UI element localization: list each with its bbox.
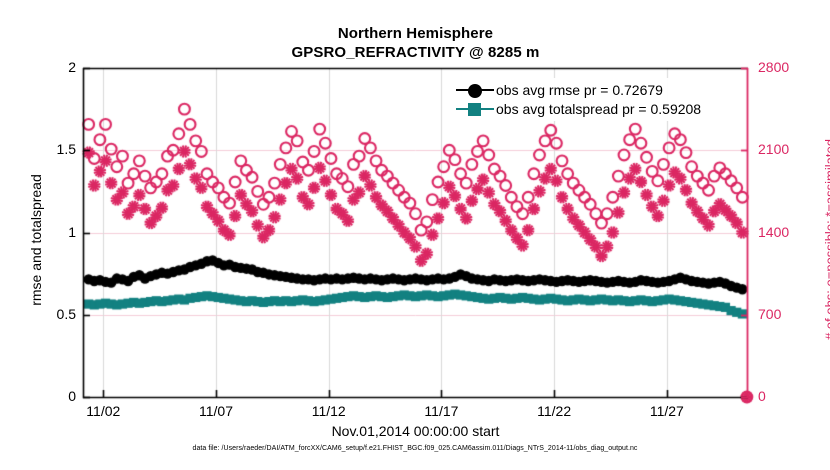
legend-marker-filled-square-icon: [456, 101, 494, 117]
y-tick-right-1400: 1400: [758, 224, 818, 240]
y-tick-left-0: 0: [21, 388, 76, 404]
y-tick-left-1: 1: [21, 224, 76, 240]
y-axis-right-label: # of obs: o=possible; *=assimilated: [823, 110, 830, 370]
legend-entry-totalspread[interactable]: obs avg totalspread pr = 0.59208: [456, 99, 701, 118]
x-tick-11-02: 11/02: [68, 403, 138, 419]
x-tick-11-07: 11/07: [181, 403, 251, 419]
y-tick-right-2800: 2800: [758, 59, 818, 75]
y-tick-right-2100: 2100: [758, 141, 818, 157]
chart-legend: obs avg rmse pr = 0.72679 obs avg totals…: [452, 78, 705, 121]
plot-canvas[interactable]: [0, 0, 830, 470]
x-tick-11-17: 11/17: [406, 403, 476, 419]
legend-entry-rmse[interactable]: obs avg rmse pr = 0.72679: [456, 80, 701, 99]
x-tick-11-27: 11/27: [632, 403, 702, 419]
data-file-footer: data file: /Users/raeder/DAI/ATM_forcXX/…: [0, 445, 830, 452]
figure-root: Northern Hemisphere GPSRO_REFRACTIVITY @…: [0, 0, 830, 470]
y-tick-right-0: 0: [758, 388, 818, 404]
y-tick-left-0.5: 0.5: [21, 306, 76, 322]
y-tick-left-1.5: 1.5: [21, 141, 76, 157]
x-axis-label: Nov.01,2014 00:00:00 start: [83, 423, 748, 439]
x-tick-11-22: 11/22: [519, 403, 589, 419]
legend-marker-filled-circle-icon: [456, 82, 494, 98]
y-tick-right-700: 700: [758, 306, 818, 322]
legend-label-rmse: obs avg rmse pr = 0.72679: [496, 82, 663, 98]
legend-label-totalspread: obs avg totalspread pr = 0.59208: [496, 101, 701, 117]
y-tick-left-2: 2: [21, 59, 76, 75]
x-tick-11-12: 11/12: [294, 403, 364, 419]
